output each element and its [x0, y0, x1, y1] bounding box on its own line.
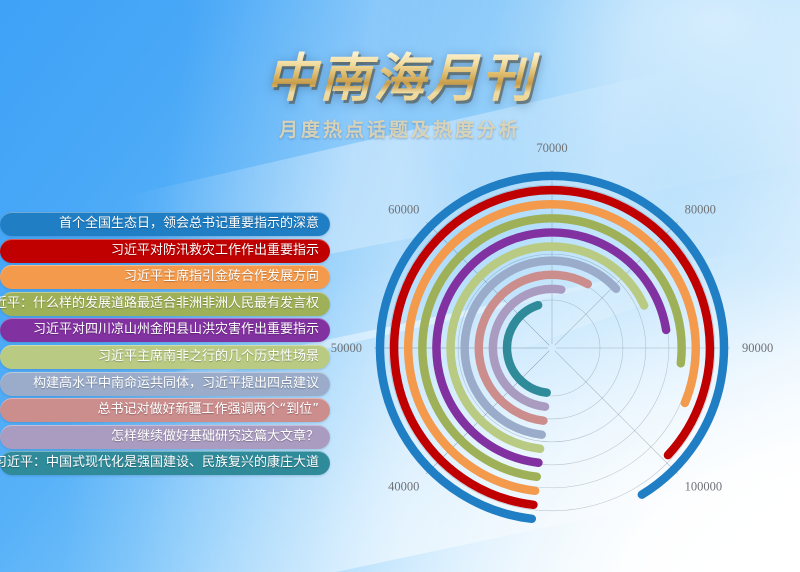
- axis-tick-label: 50000: [331, 341, 362, 355]
- legend-list: 首个全国生态日，领会总书记重要指示的深意习近平对防汛救灾工作作出重要指示习近平主…: [0, 212, 330, 478]
- axis-tick-label: 40000: [388, 480, 419, 494]
- legend-item[interactable]: 习近平对四川凉山州金阳县山洪灾害作出重要指示: [0, 318, 330, 342]
- legend-item-label: 习近平主席南非之行的几个历史性场景: [98, 350, 319, 364]
- axis-tick-label: 90000: [742, 341, 773, 355]
- poster-header: 中南海月刊 月度热点话题及热度分析: [0, 0, 800, 150]
- radial-bar-chart: 400005000060000700008000090000100000: [330, 140, 800, 560]
- legend-item[interactable]: 首个全国生态日，领会总书记重要指示的深意: [0, 212, 330, 236]
- legend-item[interactable]: 习近平：什么样的发展道路最适合非洲非洲人民最有发言权: [0, 292, 330, 316]
- axis-tick-label: 60000: [388, 202, 419, 216]
- legend-item-label: 习近平主席指引金砖合作发展方向: [124, 270, 319, 284]
- legend-item-label: 首个全国生态日，领会总书记重要指示的深意: [59, 217, 319, 231]
- page-title: 中南海月刊: [0, 50, 800, 108]
- legend-item[interactable]: 构建高水平中南命运共同体，习近平提出四点建议: [0, 372, 330, 396]
- legend-item-label: 总书记对做好新疆工作强调两个“到位”: [98, 403, 319, 417]
- radial-bar[interactable]: [507, 305, 547, 392]
- legend-item[interactable]: 习近平：中国式现代化是强国建设、民族复兴的康庄大道: [0, 451, 330, 475]
- legend-item-label: 习近平：什么样的发展道路最适合非洲非洲人民最有发言权: [0, 297, 319, 311]
- legend-item-label: 构建高水平中南命运共同体，习近平提出四点建议: [33, 377, 319, 391]
- legend-item-label: 习近平对防汛救灾工作作出重要指示: [111, 244, 319, 258]
- grid-spoke: [555, 351, 678, 474]
- poster-canvas: 中南海月刊 月度热点话题及热度分析 首个全国生态日，领会总书记重要指示的深意习近…: [0, 0, 800, 572]
- page-subtitle: 月度热点话题及热度分析: [0, 118, 800, 142]
- legend-item[interactable]: 怎样继续做好基础研究这篇大文章？: [0, 425, 330, 449]
- legend-item[interactable]: 总书记对做好新疆工作强调两个“到位”: [0, 398, 330, 422]
- legend-item[interactable]: 习近平主席南非之行的几个历史性场景: [0, 345, 330, 369]
- legend-item-label: 习近平对四川凉山州金阳县山洪灾害作出重要指示: [33, 323, 319, 337]
- legend-item[interactable]: 习近平主席指引金砖合作发展方向: [0, 265, 330, 289]
- radial-bar[interactable]: [436, 232, 666, 462]
- radial-chart-svg: 400005000060000700008000090000100000: [330, 140, 800, 560]
- legend-item-label: 习近平：中国式现代化是强国建设、民族复兴的康庄大道: [0, 456, 319, 470]
- axis-tick-label: 70000: [536, 141, 567, 155]
- legend-item[interactable]: 习近平对防汛救灾工作作出重要指示: [0, 239, 330, 263]
- axis-tick-label: 100000: [685, 480, 723, 494]
- axis-tick-label: 80000: [685, 202, 716, 216]
- legend-item-label: 怎样继续做好基础研究这篇大文章？: [111, 430, 319, 444]
